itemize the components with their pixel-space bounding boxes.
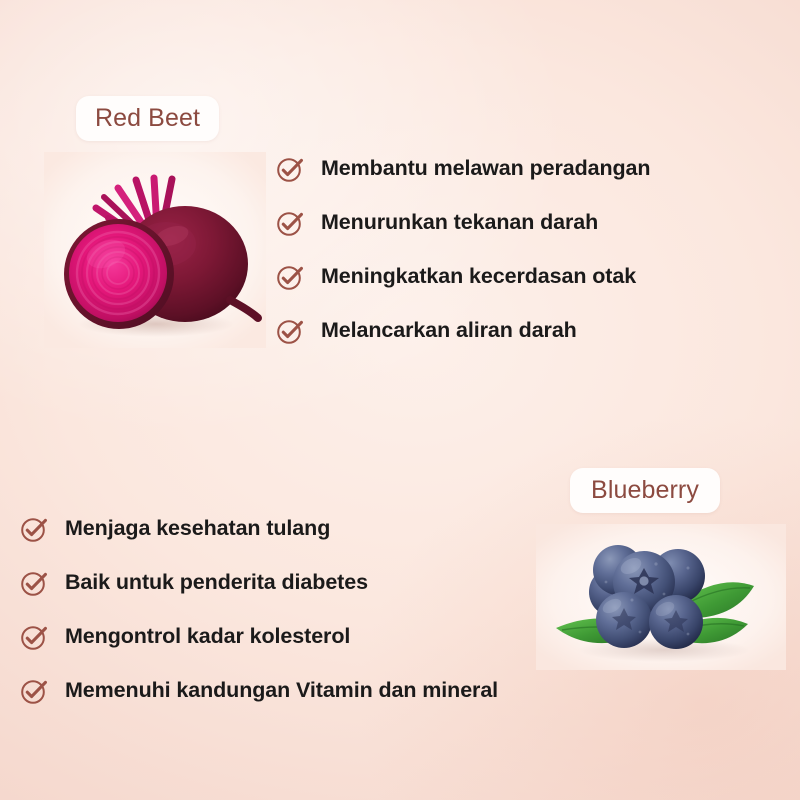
- benefit-list-blueberry: Menjaga kesehatan tulang Baik untuk pend…: [20, 502, 498, 718]
- benefit-text: Membantu melawan peradangan: [321, 158, 650, 180]
- check-circle-icon: [276, 155, 304, 183]
- check-circle-icon: [276, 263, 304, 291]
- label-blueberry: Blueberry: [570, 468, 720, 513]
- check-circle-icon: [276, 317, 304, 345]
- benefit-item: Baik untuk penderita diabetes: [20, 556, 498, 610]
- benefit-text: Memenuhi kandungan Vitamin dan mineral: [65, 680, 498, 702]
- benefit-text: Melancarkan aliran darah: [321, 320, 577, 342]
- red-beet-photo: [44, 152, 266, 348]
- label-red-beet: Red Beet: [76, 96, 219, 141]
- blueberry-photo: [536, 524, 786, 670]
- check-circle-icon: [276, 209, 304, 237]
- infographic-canvas: Red Beet: [0, 0, 800, 800]
- label-red-beet-text: Red Beet: [95, 104, 200, 133]
- check-circle-icon: [20, 569, 48, 597]
- benefit-item: Menjaga kesehatan tulang: [20, 502, 498, 556]
- benefit-item: Melancarkan aliran darah: [276, 304, 650, 358]
- check-circle-icon: [20, 515, 48, 543]
- benefit-text: Meningkatkan kecerdasan otak: [321, 266, 636, 288]
- label-blueberry-text: Blueberry: [591, 476, 699, 505]
- benefit-text: Menjaga kesehatan tulang: [65, 518, 330, 540]
- benefit-text: Mengontrol kadar kolesterol: [65, 626, 350, 648]
- benefit-text: Baik untuk penderita diabetes: [65, 572, 368, 594]
- benefit-item: Membantu melawan peradangan: [276, 142, 650, 196]
- check-circle-icon: [20, 623, 48, 651]
- benefit-item: Menurunkan tekanan darah: [276, 196, 650, 250]
- benefit-item: Mengontrol kadar kolesterol: [20, 610, 498, 664]
- benefit-item: Memenuhi kandungan Vitamin dan mineral: [20, 664, 498, 718]
- benefit-list-red-beet: Membantu melawan peradangan Menurunkan t…: [276, 142, 650, 358]
- benefit-item: Meningkatkan kecerdasan otak: [276, 250, 650, 304]
- benefit-text: Menurunkan tekanan darah: [321, 212, 598, 234]
- check-circle-icon: [20, 677, 48, 705]
